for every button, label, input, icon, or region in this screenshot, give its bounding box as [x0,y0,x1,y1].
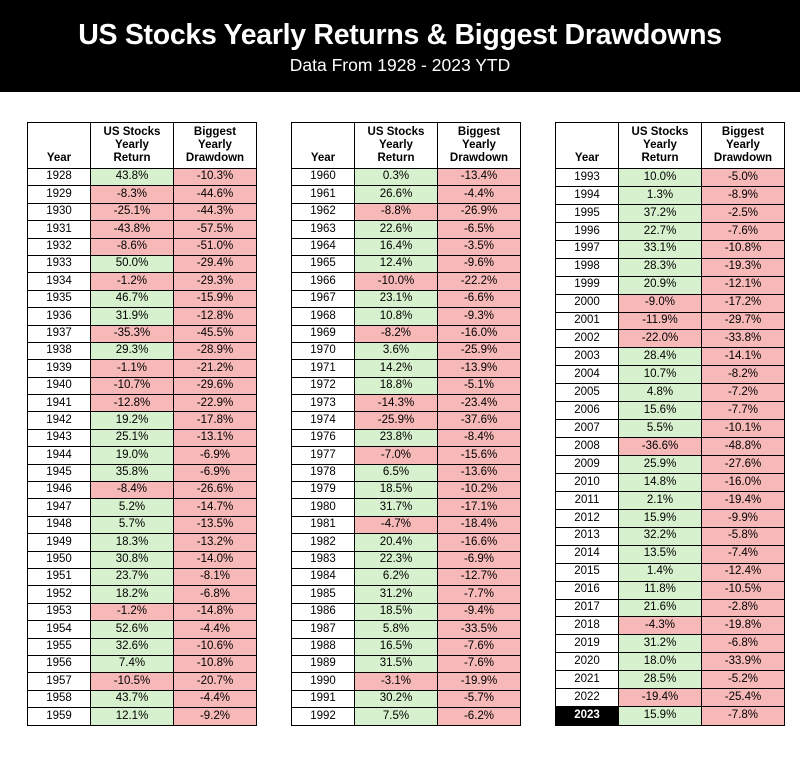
cell-year: 2020 [556,653,619,671]
cell-year: 2007 [556,420,619,438]
cell-biggest-drawdown: -10.6% [174,638,257,655]
cell-yearly-return: 10.7% [619,366,702,384]
cell-yearly-return: 33.1% [619,240,702,258]
column-header-return: US StocksYearlyReturn [619,123,702,169]
cell-year: 2006 [556,402,619,420]
cell-year: 1983 [292,551,355,568]
cell-yearly-return: 5.7% [91,516,174,533]
cell-biggest-drawdown: -13.5% [174,516,257,533]
cell-year: 1957 [28,673,91,690]
cell-biggest-drawdown: -23.4% [438,395,521,412]
cell-year: 2004 [556,366,619,384]
table-row: 195843.7%-4.4% [28,690,257,707]
cell-yearly-return: 18.3% [91,534,174,551]
cell-biggest-drawdown: -4.4% [174,621,257,638]
cell-year: 1972 [292,377,355,394]
cell-year: 1948 [28,516,91,533]
cell-year: 2011 [556,491,619,509]
table-row: 201931.2%-6.8% [556,635,785,653]
table-row: 1957-10.5%-20.7% [28,673,257,690]
column-header-line: Drawdown [450,152,508,164]
table-row: 201611.8%-10.5% [556,581,785,599]
cell-biggest-drawdown: -14.1% [702,348,785,366]
cell-year: 1998 [556,258,619,276]
table-row: 196723.1%-6.6% [292,290,521,307]
cell-biggest-drawdown: -26.6% [174,482,257,499]
cell-year: 2000 [556,294,619,312]
cell-biggest-drawdown: -9.6% [438,255,521,272]
cell-yearly-return: 20.4% [355,534,438,551]
cell-biggest-drawdown: -29.6% [174,377,257,394]
cell-year: 1954 [28,621,91,638]
column-header-year: Year [556,123,619,169]
cell-year: 1953 [28,603,91,620]
cell-yearly-return: -8.4% [91,482,174,499]
cell-year: 1943 [28,429,91,446]
cell-year: 1938 [28,342,91,359]
cell-biggest-drawdown: -18.4% [438,516,521,533]
cell-year: 1935 [28,290,91,307]
cell-biggest-drawdown: -3.5% [438,238,521,255]
cell-biggest-drawdown: -7.4% [702,545,785,563]
cell-biggest-drawdown: -12.8% [174,308,257,325]
cell-biggest-drawdown: -13.2% [174,534,257,551]
table-row: 19485.7%-13.5% [28,516,257,533]
cell-year: 2001 [556,312,619,330]
cell-biggest-drawdown: -14.0% [174,551,257,568]
table-row: 201721.6%-2.8% [556,599,785,617]
cell-yearly-return: -8.6% [91,238,174,255]
table-row: 198220.4%-16.6% [292,534,521,551]
cell-biggest-drawdown: -17.8% [174,412,257,429]
cell-biggest-drawdown: -7.6% [438,638,521,655]
table-row: 1966-10.0%-22.2% [292,273,521,290]
table-row: 196810.8%-9.3% [292,308,521,325]
cell-year: 1929 [28,186,91,203]
cell-yearly-return: -7.0% [355,447,438,464]
cell-year: 1966 [292,273,355,290]
table-row: 1939-1.1%-21.2% [28,360,257,377]
table-row: 200925.9%-27.6% [556,456,785,474]
cell-biggest-drawdown: -6.9% [438,551,521,568]
cell-biggest-drawdown: -25.9% [438,342,521,359]
cell-yearly-return: 12.1% [91,708,174,725]
cell-biggest-drawdown: -16.0% [702,473,785,491]
cell-year: 2010 [556,473,619,491]
table-row: 199130.2%-5.7% [292,690,521,707]
column-header-line: Return [113,152,150,164]
cell-year: 1979 [292,482,355,499]
column-header-line: Yearly [198,139,232,151]
cell-year: 1976 [292,429,355,446]
column-header-drawdown: BiggestYearlyDrawdown [438,123,521,169]
page-title: US Stocks Yearly Returns & Biggest Drawd… [78,20,722,52]
cell-biggest-drawdown: -15.9% [174,290,257,307]
cell-biggest-drawdown: -4.4% [174,690,257,707]
cell-yearly-return: 1.3% [619,186,702,204]
returns-table: YearUS StocksYearlyReturnBiggestYearlyDr… [27,122,257,726]
cell-year: 1950 [28,551,91,568]
cell-yearly-return: 2.1% [619,491,702,509]
cell-biggest-drawdown: -48.8% [702,438,785,456]
table-row: 2018-4.3%-19.8% [556,617,785,635]
cell-yearly-return: 18.8% [355,377,438,394]
cell-year: 1970 [292,342,355,359]
cell-year: 1956 [28,655,91,672]
table-row: 1977-7.0%-15.6% [292,447,521,464]
cell-year: 1986 [292,603,355,620]
cell-yearly-return: 4.8% [619,384,702,402]
cell-yearly-return: 32.6% [91,638,174,655]
cell-biggest-drawdown: -7.7% [438,586,521,603]
cell-biggest-drawdown: -7.6% [438,655,521,672]
table-row: 1932-8.6%-51.0% [28,238,257,255]
cell-yearly-return: 28.4% [619,348,702,366]
cell-yearly-return: -8.2% [355,325,438,342]
table-header-row: YearUS StocksYearlyReturnBiggestYearlyDr… [556,123,785,169]
table-row: 1940-10.7%-29.6% [28,377,257,394]
cell-yearly-return: 22.6% [355,221,438,238]
cell-biggest-drawdown: -7.2% [702,384,785,402]
table-row: 199733.1%-10.8% [556,240,785,258]
cell-yearly-return: 43.8% [91,169,174,186]
cell-year: 1977 [292,447,355,464]
cell-year: 1944 [28,447,91,464]
table-row: 194419.0%-6.9% [28,447,257,464]
cell-yearly-return: 16.4% [355,238,438,255]
column-header-line: US Stocks [632,126,689,138]
cell-biggest-drawdown: -22.9% [174,395,257,412]
table-row: 197918.5%-10.2% [292,482,521,499]
cell-yearly-return: -1.1% [91,360,174,377]
cell-year: 1951 [28,568,91,585]
table-row: 198322.3%-6.9% [292,551,521,568]
cell-biggest-drawdown: -6.9% [174,447,257,464]
cell-biggest-drawdown: -33.5% [438,621,521,638]
table-row: 193829.3%-28.9% [28,342,257,359]
cell-yearly-return: 5.5% [619,420,702,438]
cell-year: 1960 [292,169,355,186]
cell-biggest-drawdown: -2.8% [702,599,785,617]
cell-biggest-drawdown: -5.2% [702,671,785,689]
cell-yearly-return: 12.4% [355,255,438,272]
cell-yearly-return: 19.0% [91,447,174,464]
cell-biggest-drawdown: -10.2% [438,482,521,499]
cell-biggest-drawdown: -6.2% [438,708,521,725]
cell-yearly-return: 18.2% [91,586,174,603]
cell-year: 1932 [28,238,91,255]
table-row: 195532.6%-10.6% [28,638,257,655]
column-header-line: Return [377,152,414,164]
cell-year: 1946 [28,482,91,499]
cell-biggest-drawdown: -51.0% [174,238,257,255]
table-row: 195030.8%-14.0% [28,551,257,568]
cell-yearly-return: 23.7% [91,568,174,585]
cell-yearly-return: -11.9% [619,312,702,330]
table-row: 197623.8%-8.4% [292,429,521,446]
cell-yearly-return: 31.2% [619,635,702,653]
cell-yearly-return: -10.7% [91,377,174,394]
cell-year: 1942 [28,412,91,429]
cell-biggest-drawdown: -21.2% [174,360,257,377]
cell-year: 1995 [556,204,619,222]
cell-biggest-drawdown: -14.8% [174,603,257,620]
cell-year: 2022 [556,689,619,707]
cell-year: 1989 [292,655,355,672]
table-row: 1930-25.1%-44.3% [28,203,257,220]
cell-biggest-drawdown: -37.6% [438,412,521,429]
table-row: 20112.1%-19.4% [556,491,785,509]
cell-yearly-return: 22.7% [619,222,702,240]
table-row: 19846.2%-12.7% [292,568,521,585]
table-row: 200615.6%-7.7% [556,402,785,420]
table-row: 198931.5%-7.6% [292,655,521,672]
cell-yearly-return: -12.8% [91,395,174,412]
table-row: 1941-12.8%-22.9% [28,395,257,412]
table-row: 193546.7%-15.9% [28,290,257,307]
cell-yearly-return: 30.2% [355,690,438,707]
cell-year: 1997 [556,240,619,258]
cell-biggest-drawdown: -17.2% [702,294,785,312]
table-row: 201332.2%-5.8% [556,527,785,545]
cell-yearly-return: 50.0% [91,255,174,272]
table-row: 1953-1.2%-14.8% [28,603,257,620]
cell-yearly-return: 18.5% [355,482,438,499]
cell-yearly-return: 10.8% [355,308,438,325]
column-header-line: Biggest [194,126,236,138]
cell-year: 1941 [28,395,91,412]
cell-yearly-return: 25.1% [91,429,174,446]
table-row: 2000-9.0%-17.2% [556,294,785,312]
cell-yearly-return: -36.6% [619,438,702,456]
cell-year: 2021 [556,671,619,689]
column-header-line: Year [575,152,599,164]
cell-year: 1987 [292,621,355,638]
cell-biggest-drawdown: -33.8% [702,330,785,348]
cell-year: 2023 [556,707,619,725]
cell-year: 1984 [292,568,355,585]
cell-year: 1939 [28,360,91,377]
cell-yearly-return: 1.4% [619,563,702,581]
column-header-line: Year [47,152,71,164]
cell-yearly-return: -1.2% [91,273,174,290]
cell-biggest-drawdown: -27.6% [702,456,785,474]
cell-yearly-return: 31.2% [355,586,438,603]
cell-year: 1928 [28,169,91,186]
table-row: 19927.5%-6.2% [292,708,521,725]
table-row: 196126.6%-4.4% [292,186,521,203]
cell-year: 1988 [292,638,355,655]
cell-biggest-drawdown: -29.3% [174,273,257,290]
cell-biggest-drawdown: -7.8% [702,707,785,725]
column-header-line: Year [311,152,335,164]
cell-yearly-return: -8.8% [355,203,438,220]
cell-yearly-return: 0.3% [355,169,438,186]
header-banner: US Stocks Yearly Returns & Biggest Drawd… [0,0,800,92]
cell-biggest-drawdown: -22.2% [438,273,521,290]
column-header-line: Yearly [726,139,760,151]
cell-biggest-drawdown: -10.8% [174,655,257,672]
cell-year: 2016 [556,581,619,599]
cell-year: 1940 [28,377,91,394]
cell-year: 1930 [28,203,91,220]
table-row: 20151.4%-12.4% [556,563,785,581]
cell-yearly-return: 14.8% [619,473,702,491]
cell-year: 2012 [556,509,619,527]
table-row: 19567.4%-10.8% [28,655,257,672]
cell-yearly-return: 15.9% [619,509,702,527]
table-row: 19475.2%-14.7% [28,499,257,516]
cell-year: 1990 [292,673,355,690]
cell-year: 1985 [292,586,355,603]
cell-biggest-drawdown: -6.8% [702,635,785,653]
cell-biggest-drawdown: -44.6% [174,186,257,203]
cell-year: 1934 [28,273,91,290]
tables-container: YearUS StocksYearlyReturnBiggestYearlyDr… [0,92,800,726]
cell-year: 2003 [556,348,619,366]
table-row: 2008-36.6%-48.8% [556,438,785,456]
cell-yearly-return: -4.3% [619,617,702,635]
column-header-line: US Stocks [368,126,425,138]
cell-yearly-return: 32.2% [619,527,702,545]
cell-biggest-drawdown: -5.7% [438,690,521,707]
table-row: 199537.2%-2.5% [556,204,785,222]
cell-biggest-drawdown: -12.7% [438,568,521,585]
table-row: 1981-4.7%-18.4% [292,516,521,533]
column-header-line: US Stocks [104,126,161,138]
cell-year: 1945 [28,464,91,481]
cell-yearly-return: 15.9% [619,707,702,725]
cell-yearly-return: -9.0% [619,294,702,312]
cell-biggest-drawdown: -13.4% [438,169,521,186]
table-row: 196512.4%-9.6% [292,255,521,272]
table-row: 194535.8%-6.9% [28,464,257,481]
cell-yearly-return: 19.2% [91,412,174,429]
returns-table: YearUS StocksYearlyReturnBiggestYearlyDr… [555,122,785,726]
table-row: 199622.7%-7.6% [556,222,785,240]
table-row: 201413.5%-7.4% [556,545,785,563]
column-header-return: US StocksYearlyReturn [91,123,174,169]
column-header-year: Year [28,123,91,169]
cell-biggest-drawdown: -29.7% [702,312,785,330]
cell-yearly-return: -3.1% [355,673,438,690]
column-header-line: Yearly [379,139,413,151]
cell-yearly-return: 21.6% [619,599,702,617]
cell-yearly-return: -43.8% [91,221,174,238]
table-row: 19875.8%-33.5% [292,621,521,638]
cell-year: 2014 [556,545,619,563]
cell-year: 1949 [28,534,91,551]
returns-table: YearUS StocksYearlyReturnBiggestYearlyDr… [291,122,521,726]
column-header-line: Drawdown [186,152,244,164]
cell-biggest-drawdown: -17.1% [438,499,521,516]
cell-year: 1963 [292,221,355,238]
cell-year: 1961 [292,186,355,203]
cell-yearly-return: 22.3% [355,551,438,568]
column-header-line: Drawdown [714,152,772,164]
cell-year: 2019 [556,635,619,653]
cell-biggest-drawdown: -19.3% [702,258,785,276]
cell-year: 2002 [556,330,619,348]
cell-biggest-drawdown: -12.1% [702,276,785,294]
cell-yearly-return: 46.7% [91,290,174,307]
cell-yearly-return: -19.4% [619,689,702,707]
column-header-line: Biggest [722,126,764,138]
table-row: 192843.8%-10.3% [28,169,257,186]
cell-year: 2009 [556,456,619,474]
cell-biggest-drawdown: -16.0% [438,325,521,342]
table-row: 19703.6%-25.9% [292,342,521,359]
cell-year: 1993 [556,169,619,187]
cell-yearly-return: 37.2% [619,204,702,222]
table-row: 1962-8.8%-26.9% [292,203,521,220]
cell-yearly-return: -10.0% [355,273,438,290]
cell-biggest-drawdown: -16.6% [438,534,521,551]
cell-year: 1962 [292,203,355,220]
cell-biggest-drawdown: -13.1% [174,429,257,446]
cell-biggest-drawdown: -9.3% [438,308,521,325]
table-row: 195218.2%-6.8% [28,586,257,603]
cell-yearly-return: 25.9% [619,456,702,474]
table-row: 195123.7%-8.1% [28,568,257,585]
table-row: 1931-43.8%-57.5% [28,221,257,238]
table-row: 1973-14.3%-23.4% [292,395,521,412]
cell-year: 2018 [556,617,619,635]
column-header-line: Biggest [458,126,500,138]
cell-year: 1937 [28,325,91,342]
table-row: 1937-35.3%-45.5% [28,325,257,342]
cell-biggest-drawdown: -10.3% [174,169,257,186]
cell-year: 1999 [556,276,619,294]
cell-biggest-drawdown: -26.9% [438,203,521,220]
cell-biggest-drawdown: -6.5% [438,221,521,238]
table-row: 1934-1.2%-29.3% [28,273,257,290]
cell-yearly-return: 6.2% [355,568,438,585]
cell-yearly-return: 26.6% [355,186,438,203]
cell-biggest-drawdown: -8.1% [174,568,257,585]
cell-yearly-return: 7.4% [91,655,174,672]
cell-yearly-return: 30.8% [91,551,174,568]
cell-yearly-return: 5.8% [355,621,438,638]
column-header-line: Yearly [643,139,677,151]
cell-biggest-drawdown: -8.2% [702,366,785,384]
cell-biggest-drawdown: -29.4% [174,255,257,272]
cell-yearly-return: 31.7% [355,499,438,516]
cell-year: 1978 [292,464,355,481]
table-row: 198531.2%-7.7% [292,586,521,603]
table-row: 1969-8.2%-16.0% [292,325,521,342]
cell-yearly-return: 23.8% [355,429,438,446]
cell-year: 1996 [556,222,619,240]
cell-year: 1974 [292,412,355,429]
table-row: 194325.1%-13.1% [28,429,257,446]
cell-year: 2017 [556,599,619,617]
cell-biggest-drawdown: -10.1% [702,420,785,438]
cell-biggest-drawdown: -15.6% [438,447,521,464]
cell-biggest-drawdown: -6.6% [438,290,521,307]
cell-biggest-drawdown: -19.9% [438,673,521,690]
cell-year: 1981 [292,516,355,533]
table-row: 196322.6%-6.5% [292,221,521,238]
cell-biggest-drawdown: -7.7% [702,402,785,420]
table-row: 197114.2%-13.9% [292,360,521,377]
cell-yearly-return: 11.8% [619,581,702,599]
cell-yearly-return: -1.2% [91,603,174,620]
cell-yearly-return: -22.0% [619,330,702,348]
cell-yearly-return: 18.5% [355,603,438,620]
cell-year: 1955 [28,638,91,655]
cell-yearly-return: -4.7% [355,516,438,533]
